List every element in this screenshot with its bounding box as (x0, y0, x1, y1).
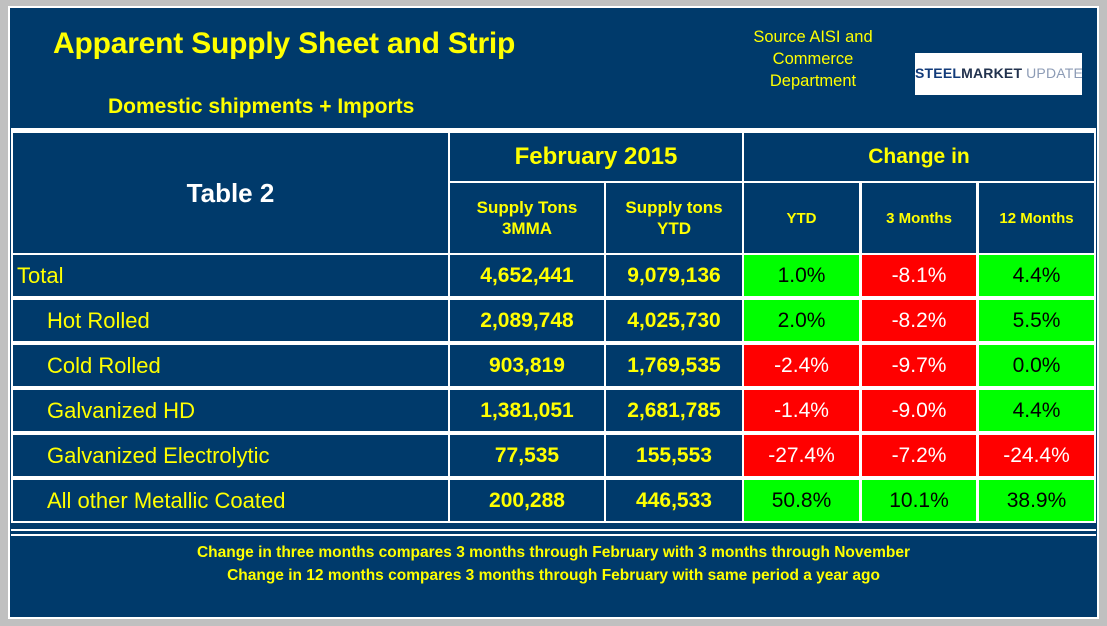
column-header-change-12-months-label: 12 Months (999, 210, 1073, 227)
table-row: Total 4,652,441 9,079,136 1.0% -8.1% 4.4… (11, 253, 1096, 298)
column-header-supply-3mma: Supply Tons 3MMA (448, 181, 606, 255)
row-label-cell: All other Metallic Coated (11, 478, 450, 523)
row-label: Cold Rolled (13, 353, 161, 379)
table-row: Galvanized Electrolytic 77,535 155,553 -… (11, 433, 1096, 478)
table-body: Total 4,652,441 9,079,136 1.0% -8.1% 4.4… (11, 253, 1096, 523)
cell-change-12-months: 4.4% (977, 388, 1096, 433)
row-label: All other Metallic Coated (13, 488, 285, 514)
slide-frame: Apparent Supply Sheet and Strip Domestic… (8, 6, 1099, 619)
column-header-change-3-months-label: 3 Months (886, 210, 952, 227)
column-header-change-12-months: 12 Months (977, 181, 1096, 255)
footnote-line-1: Change in three months compares 3 months… (11, 541, 1096, 564)
group-header-change: Change in (742, 131, 1096, 183)
group-header-period: February 2015 (448, 131, 744, 183)
logo-word-market: MARKET (961, 65, 1022, 81)
cell-change-ytd: -27.4% (742, 433, 861, 478)
logo-word-update: UPDATE (1026, 65, 1082, 81)
table-row: Hot Rolled 2,089,748 4,025,730 2.0% -8.2… (11, 298, 1096, 343)
column-header-change-3-months: 3 Months (860, 181, 978, 255)
row-label-cell: Hot Rolled (11, 298, 450, 343)
cell-supply-ytd: 9,079,136 (604, 253, 744, 298)
logo-word-steel: STEEL (915, 65, 961, 81)
cell-change-ytd: 1.0% (742, 253, 861, 298)
cell-change-ytd: 2.0% (742, 298, 861, 343)
cell-supply-3mma: 77,535 (448, 433, 606, 478)
cell-supply-ytd: 446,533 (604, 478, 744, 523)
row-label-cell: Galvanized Electrolytic (11, 433, 450, 478)
cell-change-3-months: -9.7% (860, 343, 978, 388)
cell-supply-ytd: 2,681,785 (604, 388, 744, 433)
cell-change-12-months: 38.9% (977, 478, 1096, 523)
cell-supply-ytd: 1,769,535 (604, 343, 744, 388)
cell-supply-3mma: 2,089,748 (448, 298, 606, 343)
cell-supply-3mma: 1,381,051 (448, 388, 606, 433)
page-title: Apparent Supply Sheet and Strip (53, 27, 515, 61)
group-header-change-label: Change in (868, 145, 970, 169)
slide-frame-inner: Apparent Supply Sheet and Strip Domestic… (10, 8, 1097, 617)
row-label: Galvanized HD (13, 398, 195, 424)
row-label: Hot Rolled (13, 308, 150, 334)
page-subtitle: Domestic shipments + Imports (108, 95, 414, 119)
cell-change-ytd: -2.4% (742, 343, 861, 388)
cell-supply-ytd: 4,025,730 (604, 298, 744, 343)
slide-canvas: Apparent Supply Sheet and Strip Domestic… (0, 0, 1107, 626)
row-label: Galvanized Electrolytic (13, 443, 270, 469)
footnote-line-2: Change in 12 months compares 3 months th… (11, 564, 1096, 587)
cell-change-12-months: 0.0% (977, 343, 1096, 388)
column-header-supply-ytd-line1: Supply tons (625, 197, 722, 218)
cell-supply-3mma: 200,288 (448, 478, 606, 523)
cell-change-3-months: -8.2% (860, 298, 978, 343)
table-row: Cold Rolled 903,819 1,769,535 -2.4% -9.7… (11, 343, 1096, 388)
cell-change-3-months: -7.2% (860, 433, 978, 478)
row-label-cell: Total (11, 253, 450, 298)
steel-market-update-logo: STEELMARKET UPDATE (915, 53, 1082, 95)
row-label: Total (13, 263, 63, 289)
cell-change-12-months: 4.4% (977, 253, 1096, 298)
cell-change-3-months: -8.1% (860, 253, 978, 298)
cell-change-3-months: -9.0% (860, 388, 978, 433)
column-header-change-ytd-label: YTD (787, 210, 817, 227)
cell-change-ytd: 50.8% (742, 478, 861, 523)
table-row: Galvanized HD 1,381,051 2,681,785 -1.4% … (11, 388, 1096, 433)
table-corner-label: Table 2 (11, 131, 450, 255)
logo-wordmark: STEELMARKET UPDATE (915, 66, 1082, 81)
table-bottom-divider-inner (11, 534, 1096, 536)
table-number: Table 2 (187, 178, 275, 209)
data-table: Table 2 February 2015 Change in Supply T… (11, 131, 1096, 529)
column-header-supply-ytd: Supply tons YTD (604, 181, 744, 255)
column-header-supply-3mma-line1: Supply Tons (477, 197, 578, 218)
row-label-cell: Galvanized HD (11, 388, 450, 433)
row-label-cell: Cold Rolled (11, 343, 450, 388)
cell-supply-3mma: 903,819 (448, 343, 606, 388)
cell-change-12-months: 5.5% (977, 298, 1096, 343)
cell-change-12-months: -24.4% (977, 433, 1096, 478)
table-bottom-divider-outer (11, 529, 1096, 531)
cell-change-ytd: -1.4% (742, 388, 861, 433)
cell-supply-ytd: 155,553 (604, 433, 744, 478)
table-row: All other Metallic Coated 200,288 446,53… (11, 478, 1096, 523)
title-band: Apparent Supply Sheet and Strip Domestic… (11, 9, 1096, 128)
footnotes: Change in three months compares 3 months… (11, 541, 1096, 587)
cell-supply-3mma: 4,652,441 (448, 253, 606, 298)
group-header-period-label: February 2015 (515, 143, 678, 171)
cell-change-3-months: 10.1% (860, 478, 978, 523)
column-header-supply-3mma-line2: 3MMA (477, 218, 578, 239)
column-header-change-ytd: YTD (742, 181, 861, 255)
column-header-supply-ytd-line2: YTD (625, 218, 722, 239)
source-note: Source AISI and Commerce Department (739, 26, 887, 92)
